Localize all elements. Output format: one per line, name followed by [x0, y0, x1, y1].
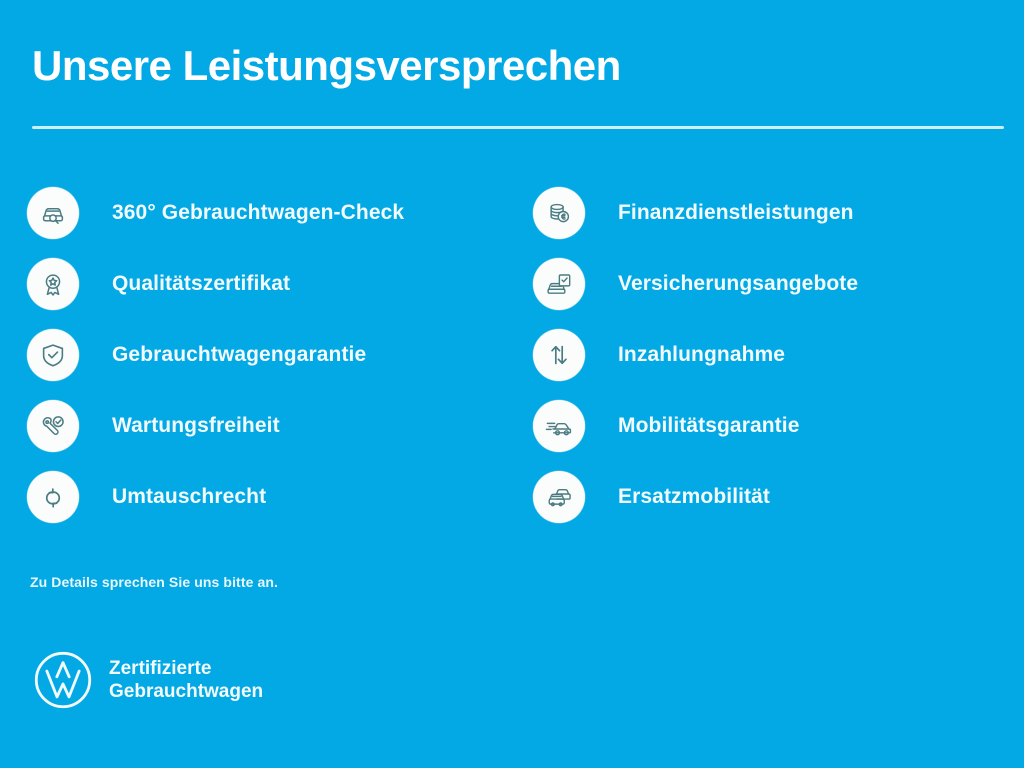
two-cars-icon — [533, 471, 585, 523]
feature-item-umtauschrecht[interactable]: Umtauschrecht — [27, 471, 404, 542]
feature-item-inzahlungnahme[interactable]: Inzahlungnahme — [533, 329, 858, 400]
title-divider — [32, 126, 1004, 129]
up-down-arrows-icon — [533, 329, 585, 381]
feature-item-wartungsfreiheit[interactable]: Wartungsfreiheit — [27, 400, 404, 471]
shield-check-icon — [27, 329, 79, 381]
feature-item-finanzdienstleistungen[interactable]: Finanzdienstleistungen — [533, 187, 858, 258]
feature-column-left: 360° Gebrauchtwagen-Check Qualitätszerti… — [27, 187, 404, 542]
feature-item-versicherungsangebote[interactable]: Versicherungsangebote — [533, 258, 858, 329]
feature-label: Umtauschrecht — [112, 471, 266, 523]
feature-column-right: Finanzdienstleistungen Versicherungsange… — [533, 187, 858, 542]
car-inspection-icon — [27, 187, 79, 239]
feature-label: 360° Gebrauchtwagen-Check — [112, 187, 404, 239]
volkswagen-logo — [33, 650, 93, 710]
brand-line-1: Zertifizierte — [109, 657, 263, 680]
car-document-icon — [533, 258, 585, 310]
feature-label: Mobilitätsgarantie — [618, 400, 800, 452]
car-motion-icon — [533, 400, 585, 452]
brand-block: Zertifizierte Gebrauchtwagen — [33, 650, 263, 710]
coins-stack-icon — [533, 187, 585, 239]
feature-label: Qualitätszertifikat — [112, 258, 290, 310]
wrench-check-icon — [27, 400, 79, 452]
details-note: Zu Details sprechen Sie uns bitte an. — [30, 574, 278, 590]
exchange-arrows-icon — [27, 471, 79, 523]
page-title: Unsere Leistungsversprechen — [32, 44, 621, 88]
feature-item-mobilitaetsgarantie[interactable]: Mobilitätsgarantie — [533, 400, 858, 471]
feature-label: Finanzdienstleistungen — [618, 187, 854, 239]
feature-item-ersatzmobilitaet[interactable]: Ersatzmobilität — [533, 471, 858, 542]
feature-label: Ersatzmobilität — [618, 471, 770, 523]
feature-item-qualitaetszertifikat[interactable]: Qualitätszertifikat — [27, 258, 404, 329]
award-rosette-icon — [27, 258, 79, 310]
brand-line-2: Gebrauchtwagen — [109, 680, 263, 703]
feature-label: Versicherungsangebote — [618, 258, 858, 310]
feature-label: Inzahlungnahme — [618, 329, 785, 381]
brand-text: Zertifizierte Gebrauchtwagen — [109, 657, 263, 703]
feature-label: Gebrauchtwagengarantie — [112, 329, 366, 381]
feature-label: Wartungsfreiheit — [112, 400, 280, 452]
feature-item-gebrauchtwagengarantie[interactable]: Gebrauchtwagengarantie — [27, 329, 404, 400]
feature-item-gebrauchtwagen-check[interactable]: 360° Gebrauchtwagen-Check — [27, 187, 404, 258]
promo-panel: Unsere Leistungsversprechen 360° Gebrauc… — [0, 0, 1024, 768]
